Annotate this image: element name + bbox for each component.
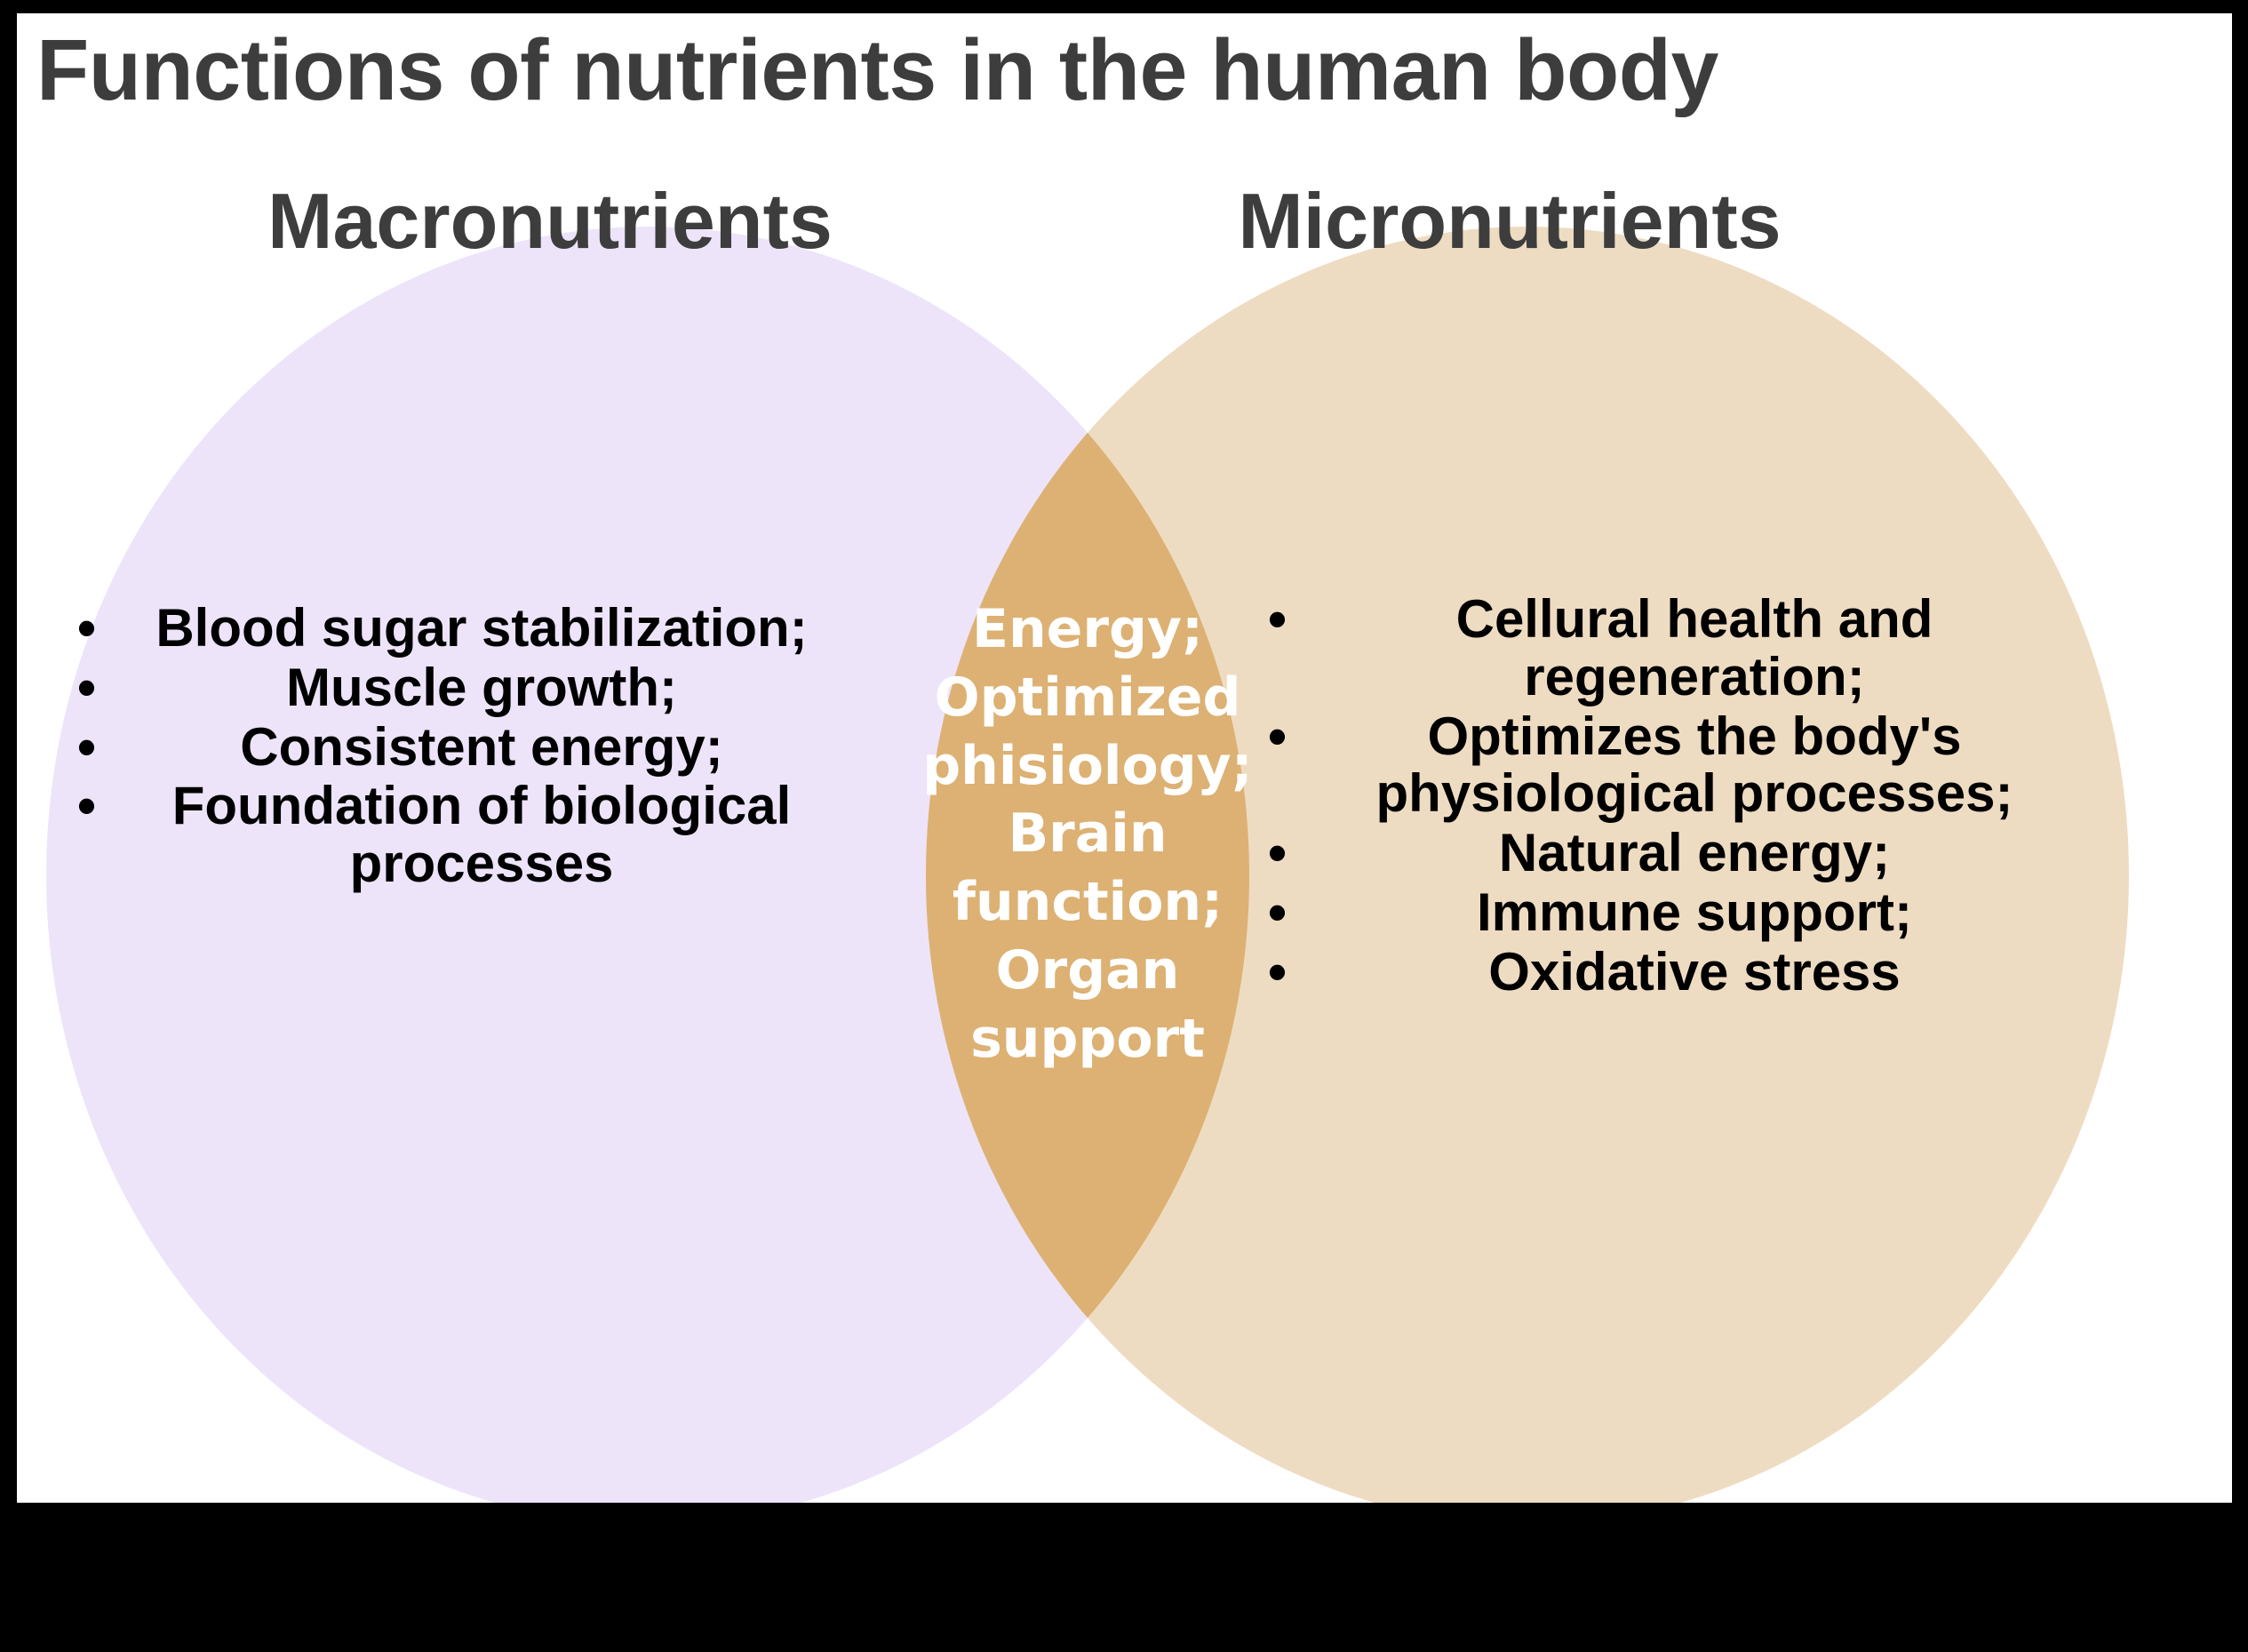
list-item: • Optimizes the body's physiological pro… (1277, 708, 2077, 824)
list-item: • Foundation of biological processes (86, 778, 841, 893)
bullet-icon: • (1268, 884, 1300, 942)
bullet-icon: • (77, 659, 109, 717)
list-item: • Consistent energy; (86, 719, 841, 777)
list-item-label: Muscle growth; (86, 659, 841, 717)
list-item: • Immune support; (1277, 884, 2077, 942)
diagram-page: Functions of nutrients in the human body… (17, 13, 2232, 1503)
right-set-label: Micronutrients (1136, 182, 1883, 260)
left-set-label: Macronutrients (150, 182, 950, 260)
bullet-icon: • (1268, 825, 1300, 882)
bullet-icon: • (77, 778, 109, 835)
bullet-icon: • (77, 719, 109, 777)
venn-diagram: Macronutrients Micronutrients • Blood su… (17, 13, 2232, 1503)
list-item: • Muscle growth; (86, 659, 841, 717)
list-item-label: Foundation of biological processes (86, 778, 841, 893)
bullet-icon: • (1268, 708, 1300, 766)
list-item-label: Blood sugar stabilization; (86, 600, 841, 658)
screenshot-canvas: Functions of nutrients in the human body… (0, 0, 2248, 1652)
bullet-icon: • (1268, 944, 1300, 1002)
left-set-list: • Blood sugar stabilization; • Muscle gr… (86, 600, 841, 895)
list-item: • Oxidative stress (1277, 944, 2077, 1002)
list-item-label: Consistent energy; (86, 719, 841, 777)
list-item-label: Oxidative stress (1277, 944, 2077, 1002)
bullet-icon: • (1268, 591, 1300, 649)
list-item: • Blood sugar stabilization; (86, 600, 841, 658)
right-set-list: • Cellural health and regeneration; • Op… (1277, 591, 2077, 1003)
list-item-label: Immune support; (1277, 884, 2077, 942)
list-item-label: Cellural health and regeneration; (1277, 591, 2077, 706)
intersection-label: Energy; Optimized phisiology; Brain func… (905, 595, 1270, 1073)
list-item: • Natural energy; (1277, 825, 2077, 882)
list-item-label: Natural energy; (1277, 825, 2077, 882)
list-item-label: Optimizes the body's physiological proce… (1277, 708, 2077, 824)
bullet-icon: • (77, 600, 109, 658)
list-item: • Cellural health and regeneration; (1277, 591, 2077, 706)
